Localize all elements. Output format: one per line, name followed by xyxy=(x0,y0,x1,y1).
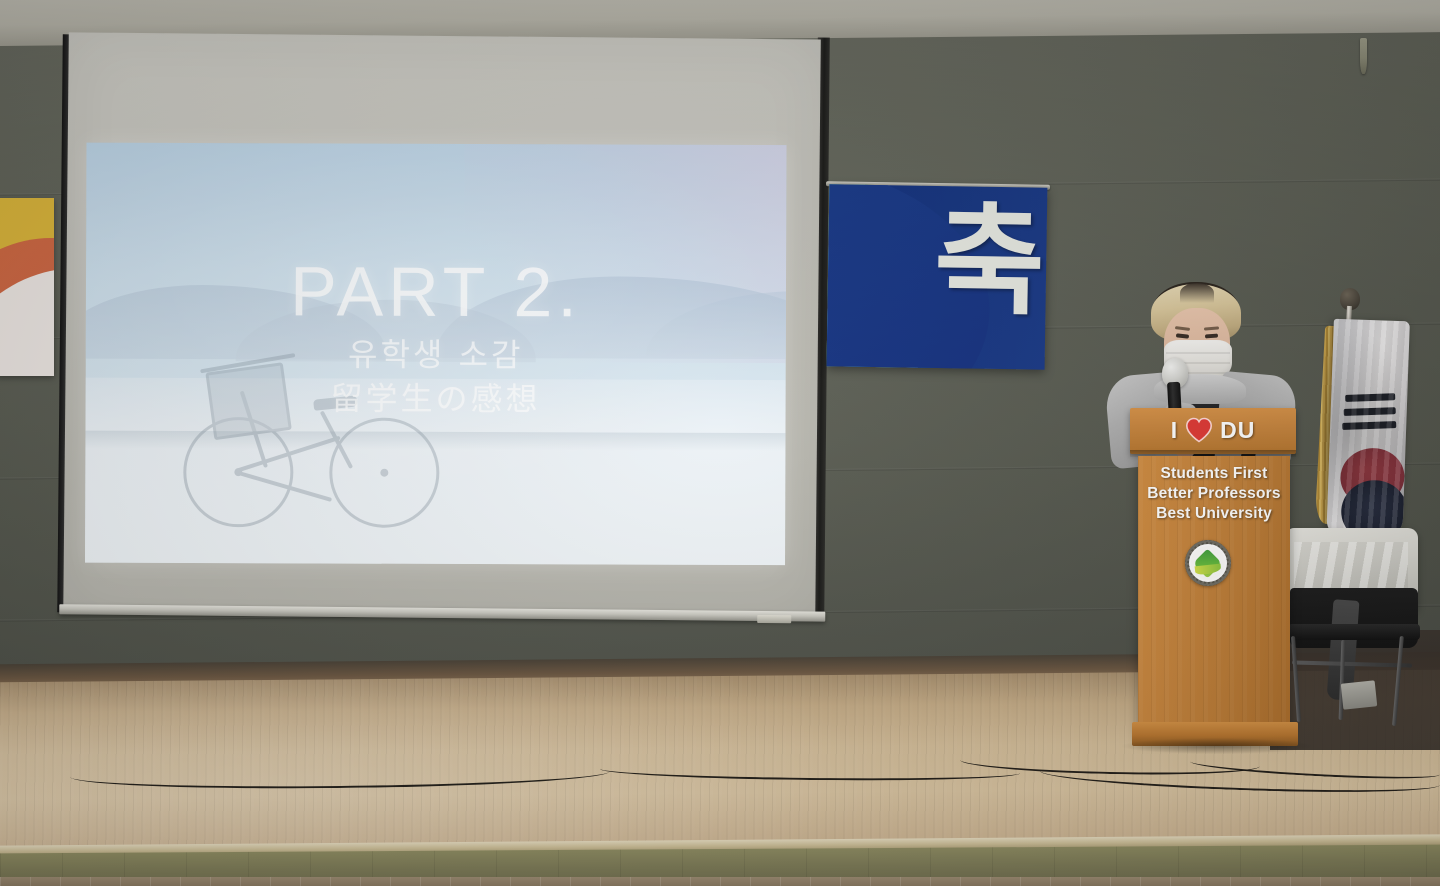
banner-character: 축 xyxy=(933,198,1045,327)
slide-text-block: PART 2. 유학생 소감 留学生の感想 xyxy=(85,143,786,565)
flag-trigram-bar xyxy=(1342,421,1396,430)
slogan-prefix: I xyxy=(1171,417,1178,444)
stage-front-lip xyxy=(0,877,1440,886)
university-seal xyxy=(1185,540,1231,586)
lectern-floor-shadow xyxy=(1122,738,1312,754)
wall-hook-icon xyxy=(1360,38,1367,74)
mask-pleat xyxy=(1166,352,1230,354)
heart-icon xyxy=(1185,417,1213,443)
color-stripe-banner xyxy=(0,198,54,376)
projection-screen: PART 2. 유학생 소감 留学生の感想 xyxy=(57,30,841,625)
lectern-slogan-lines: Students First Better Professors Best Un… xyxy=(1138,464,1290,523)
photo-scene: PART 2. 유학생 소감 留学生の感想 축 xyxy=(0,0,1440,886)
lectern-slogan-top: I DU xyxy=(1130,414,1296,446)
slide-subtitle-japanese: 留学生の感想 xyxy=(86,373,786,421)
slogan-suffix: DU xyxy=(1220,417,1255,444)
slogan-line-1: Students First xyxy=(1138,464,1290,484)
flag-trigram-bar xyxy=(1344,407,1396,416)
taegukgi-flag xyxy=(1312,288,1422,550)
congratulation-banner: 축 xyxy=(827,184,1048,369)
screen-pull-tab[interactable] xyxy=(757,615,791,623)
flag-trigram-bar xyxy=(1345,393,1395,402)
slogan-line-2: Better Professors xyxy=(1138,484,1290,504)
hair-part xyxy=(1180,283,1214,303)
flag-cloth xyxy=(1326,319,1410,546)
projected-slide: PART 2. 유학생 소감 留学生の感想 xyxy=(85,143,786,565)
slide-subtitle-korean: 유학생 소감 xyxy=(86,329,786,377)
slogan-line-3: Best University xyxy=(1138,504,1290,524)
seal-outer-ring xyxy=(1185,540,1231,586)
slide-title: PART 2. xyxy=(86,251,786,333)
chair-paper-sheet xyxy=(1341,680,1378,709)
